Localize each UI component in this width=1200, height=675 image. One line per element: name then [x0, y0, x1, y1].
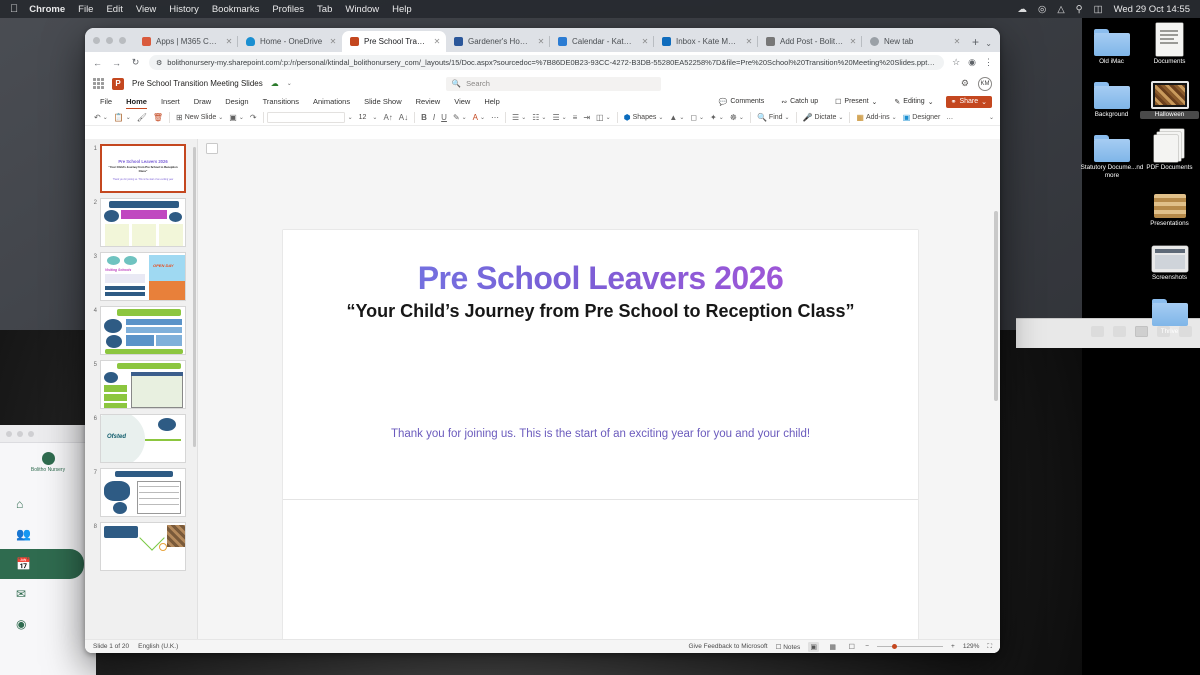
thumbnail-slide-3[interactable]: Visiting Schools OPEN DAY: [100, 252, 186, 301]
shape-effects-icon: ✦: [710, 113, 717, 122]
fit-to-window-icon[interactable]: ⛶: [987, 643, 992, 651]
wordpress-icon: [766, 37, 775, 46]
search-placeholder: Search: [466, 79, 490, 88]
status-bar: Slide 1 of 20 English (U.K.) Give Feedba…: [85, 639, 1000, 653]
reload-button[interactable]: ↻: [130, 57, 141, 68]
folder-icon: [1082, 22, 1141, 56]
thumbnail-number: 8: [87, 522, 97, 530]
addins-icon: ▦: [856, 113, 864, 122]
shape-outline-icon: ◻: [690, 113, 697, 122]
menu-view[interactable]: View: [136, 4, 156, 15]
chrome-browser-window: Apps | M365 Copilot ✕ Home - OneDrive ✕ …: [85, 28, 1000, 653]
layout-icon: ▣: [229, 113, 237, 122]
pencil-icon: ✎: [894, 98, 900, 106]
nav-chat[interactable]: ✉: [0, 579, 96, 609]
normal-view-icon[interactable]: ▣: [808, 642, 819, 652]
back-button[interactable]: ←: [92, 58, 103, 68]
zoom-in-button[interactable]: +: [951, 643, 955, 650]
undo-icon: ↶: [94, 113, 101, 122]
search-input[interactable]: 🔍 Search: [446, 77, 661, 91]
chevron-down-icon[interactable]: ⌄: [719, 114, 724, 121]
thumbnail-row[interactable]: 3 Visiting Schools OPEN DAY: [85, 247, 197, 301]
designer-button[interactable]: ▣Designer: [900, 111, 944, 124]
line-spacing-button[interactable]: ≡: [570, 111, 581, 124]
bullets-icon: ☰: [512, 113, 519, 122]
search-icon[interactable]: ⚲: [1076, 4, 1083, 15]
nav-home[interactable]: ⌂: [0, 489, 96, 519]
wifi-icon[interactable]: △: [1057, 4, 1064, 15]
photo-icon: [1140, 75, 1199, 109]
nav-people[interactable]: 👥: [0, 519, 96, 549]
more-font-options-button[interactable]: ⋯: [488, 111, 502, 124]
highlight-icon: ✎: [453, 113, 460, 122]
brand-label: Bolitho Nursery: [31, 467, 65, 473]
thumbnail-slide-4[interactable]: [100, 306, 186, 355]
desktop-icon-pdf-documents[interactable]: PDF Documents: [1140, 128, 1199, 172]
copilot-icon: [142, 37, 151, 46]
browser-tab[interactable]: Calendar - Kate Mudd - O… ✕: [550, 31, 654, 52]
thumbnail-slide-7[interactable]: [100, 468, 186, 517]
app-launcher-icon[interactable]: [93, 78, 104, 89]
present-label: Present: [844, 98, 868, 105]
chevron-down-icon[interactable]: ⌄: [521, 114, 526, 121]
delete-button[interactable]: 🗑: [150, 111, 166, 124]
reset-icon: ↷: [250, 113, 257, 122]
doc-stack-icon: [1140, 128, 1199, 162]
thumbnail-slide-2[interactable]: [100, 198, 186, 247]
notes-button[interactable]: ☐ Notes: [776, 643, 801, 651]
browser-tab[interactable]: Gardener's House Trip R… ✕: [446, 31, 550, 52]
desktop-icon-label: PDF Documents: [1140, 164, 1199, 172]
editor-work-area: 1 Pre School Leavers 2026 "Your Child's …: [85, 139, 1000, 639]
bold-icon: B: [421, 113, 427, 122]
underline-button[interactable]: U: [438, 111, 450, 124]
powerpoint-web-app: Pre School Transition Meeting Slides ☁ ⌄…: [85, 73, 1000, 653]
chevron-down-icon[interactable]: ⌄: [892, 114, 897, 121]
new-slide-icon: ⊞: [176, 113, 183, 122]
tab-draw[interactable]: Draw: [187, 94, 219, 109]
grow-font-button[interactable]: A↑: [380, 111, 395, 124]
desktop-icon-label: Documents: [1140, 58, 1199, 66]
thumbnail-slide-5[interactable]: [100, 360, 186, 409]
desktop-icons: Old iMac Documents Background Halloween …: [1082, 18, 1200, 348]
browser-toolbar: ← → ↻ ⚙ bolithonursery-my.sharepoint.com…: [85, 52, 1000, 73]
tab-view[interactable]: View: [447, 94, 477, 109]
thumbnail-number: 5: [87, 360, 97, 368]
tab-file[interactable]: File: [93, 94, 119, 109]
search-icon: 🔍: [452, 79, 461, 88]
onedrive-icon: [246, 37, 255, 46]
menu-chrome[interactable]: Chrome: [29, 4, 65, 15]
slide-options-button[interactable]: [206, 143, 218, 154]
minimize-icon[interactable]: [106, 37, 113, 44]
language-label[interactable]: English (U.K.): [138, 643, 178, 650]
sorter-view-icon[interactable]: ▦: [827, 642, 838, 652]
tab-transitions[interactable]: Transitions: [256, 94, 306, 109]
comments-button[interactable]: 💬 Comments: [714, 96, 770, 108]
tab-title: Gardener's House Trip R…: [468, 37, 532, 46]
document-icon: [1140, 22, 1199, 56]
desktop-icon-label: Thrive: [1140, 328, 1199, 336]
present-icon: ☐: [835, 98, 841, 106]
close-icon[interactable]: [6, 431, 12, 437]
tab-title: Calendar - Kate Mudd - O…: [572, 37, 636, 46]
close-icon[interactable]: ✕: [849, 37, 857, 46]
browser-tab-strip: Apps | M365 Copilot ✕ Home - OneDrive ✕ …: [85, 28, 1000, 52]
paste-icon: 📋: [114, 113, 124, 122]
bookmark-star-icon[interactable]: ☆: [952, 57, 960, 68]
feedback-link[interactable]: Give Feedback to Microsoft: [688, 643, 767, 650]
browser-tab[interactable]: New tab ✕: [862, 31, 966, 52]
slide-thumbnail-panel[interactable]: 1 Pre School Leavers 2026 "Your Child's …: [85, 139, 198, 639]
app-header: Pre School Transition Meeting Slides ☁ ⌄…: [85, 73, 1000, 94]
menu-tab[interactable]: Tab: [317, 4, 332, 15]
shapes-icon: ⬢: [624, 113, 631, 122]
shape-fill-icon: ▲: [669, 113, 677, 122]
shapes-label: Shapes: [633, 114, 657, 121]
thumbnail-slide-1[interactable]: Pre School Leavers 2026 "Your Child's Jo…: [100, 144, 186, 193]
reset-button[interactable]: ↷: [247, 111, 260, 124]
comments-label: Comments: [730, 98, 764, 105]
slide-divider: [283, 499, 918, 500]
word-icon: [454, 37, 463, 46]
close-icon[interactable]: ✕: [329, 37, 337, 46]
new-slide-label: New Slide: [185, 114, 217, 121]
chrome-menu-icon[interactable]: ⋮: [984, 57, 993, 68]
columns-icon: ◫: [596, 113, 604, 122]
catchup-icon: ∾: [781, 98, 787, 106]
underline-icon: U: [441, 113, 447, 122]
new-tab-button[interactable]: +: [972, 35, 979, 49]
bullets-button[interactable]: ☰⌄: [509, 111, 529, 124]
slide-canvas[interactable]: Pre School Leavers 2026 “Your Child’s Jo…: [283, 230, 918, 639]
apple-logo-icon[interactable]: : [10, 4, 18, 15]
catch-up-button[interactable]: ∾ Catch up: [776, 96, 823, 108]
chevron-down-icon[interactable]: ⌄: [928, 98, 934, 106]
thumbnail-row[interactable]: 6 Ofsted: [85, 409, 197, 463]
font-name-input[interactable]: [267, 112, 345, 123]
gear-icon[interactable]: ⚙: [961, 78, 969, 89]
tab-title: Inbox - Kate Mudd - Outl…: [676, 37, 740, 46]
dictate-label: Dictate: [815, 114, 837, 121]
tab-help[interactable]: Help: [477, 94, 506, 109]
comment-icon: 💬: [719, 98, 728, 106]
cloud-saved-icon: ☁: [271, 79, 279, 88]
browser-tab[interactable]: Apps | M365 Copilot ✕: [134, 31, 238, 52]
chevron-down-icon[interactable]: ⌄: [239, 114, 244, 121]
new-slide-button[interactable]: ⊞New Slide⌄: [173, 111, 226, 124]
menu-bar-clock[interactable]: Wed 29 Oct 14:55: [1114, 4, 1190, 15]
arrange-icon: ☸: [730, 113, 737, 122]
background-app-window[interactable]: Bolitho Nursery ⌂ 👥 📅 ✉ ◉: [0, 425, 96, 675]
chevron-down-icon[interactable]: ⌄: [838, 114, 843, 121]
align-button[interactable]: ☰⌄: [549, 111, 569, 124]
font-color-icon: A: [473, 113, 478, 122]
reading-view-icon[interactable]: ☐: [846, 642, 857, 652]
screenshot-icon: [1140, 238, 1199, 272]
close-icon[interactable]: ✕: [433, 37, 441, 46]
close-icon[interactable]: ✕: [641, 37, 649, 46]
photo-grid-icon: [1140, 184, 1199, 218]
close-icon[interactable]: ✕: [953, 37, 961, 46]
chevron-down-icon[interactable]: ⌄: [126, 114, 131, 121]
desktop-icon-old-imac[interactable]: Old iMac: [1082, 22, 1141, 66]
screen: Bolitho Nursery ⌂ 👥 📅 ✉ ◉ Old iMac: [0, 0, 1200, 675]
folder-icon: [1082, 75, 1141, 109]
delete-icon: 🗑: [153, 113, 163, 122]
dictate-button[interactable]: 🎤Dictate⌄: [800, 111, 847, 124]
designer-icon: ▣: [903, 113, 911, 122]
font-color-button[interactable]: A⌄: [470, 111, 488, 124]
tab-title: Add Post - Bolitho Nurse…: [780, 37, 844, 46]
tab-title: Apps | M365 Copilot: [156, 37, 220, 46]
thumbnail-row[interactable]: 2: [85, 193, 197, 247]
italic-button[interactable]: I: [430, 111, 438, 124]
chevron-down-icon[interactable]: ⌄: [872, 98, 878, 106]
thumbnail-number: 1: [87, 144, 97, 152]
thumbnail-number: 2: [87, 198, 97, 206]
thumbnail-scrollbar[interactable]: [193, 147, 196, 447]
chevron-down-icon[interactable]: ⌄: [679, 114, 684, 121]
menu-window[interactable]: Window: [345, 4, 379, 15]
chevron-down-icon[interactable]: ⌄: [541, 114, 546, 121]
format-painter-button[interactable]: 🖌: [134, 111, 150, 124]
slide-subtitle[interactable]: “Your Child’s Journey from Pre School to…: [283, 301, 918, 322]
nav-camera[interactable]: ◉: [0, 609, 96, 639]
url-text: bolithonursery-my.sharepoint.com/:p:/r/p…: [167, 58, 937, 67]
extensions-icon[interactable]: ◉: [968, 57, 976, 68]
editing-button[interactable]: ✎ Editing ⌄: [889, 96, 938, 108]
desktop-icon-halloween[interactable]: Halloween: [1140, 75, 1199, 119]
powerpoint-icon: [112, 78, 124, 90]
catch-up-label: Catch up: [790, 98, 818, 105]
thumbnail-slide-8[interactable]: [100, 522, 186, 571]
record-icon[interactable]: ◎: [1038, 4, 1046, 15]
thumbnail-row[interactable]: 8: [85, 517, 197, 571]
zoom-icon[interactable]: [28, 431, 34, 437]
shape-outline-button[interactable]: ◻⌄: [687, 111, 707, 124]
chevron-down-icon[interactable]: ⌄: [981, 98, 987, 106]
desktop-icon-documents[interactable]: Documents: [1140, 22, 1199, 66]
share-label: Share: [959, 98, 978, 105]
desktop-icon-label: Halloween: [1140, 111, 1199, 119]
shape-fill-button[interactable]: ▲⌄: [666, 111, 687, 124]
tab-title: New tab: [884, 37, 948, 46]
addins-label: Add-ins: [866, 114, 890, 121]
chevron-down-icon[interactable]: ⌄: [785, 114, 790, 121]
close-icon[interactable]: ✕: [745, 37, 753, 46]
thumbnail-row[interactable]: 1 Pre School Leavers 2026 "Your Child's …: [85, 139, 197, 193]
tab-title: Home - OneDrive: [260, 37, 324, 46]
columns-button[interactable]: ◫⌄: [593, 111, 614, 124]
chevron-down-icon[interactable]: ⌄: [562, 114, 567, 121]
calendar-icon: [558, 37, 567, 46]
highlight-button[interactable]: ✎⌄: [450, 111, 470, 124]
arrange-button[interactable]: ☸⌄: [727, 111, 747, 124]
tab-slide-show[interactable]: Slide Show: [357, 94, 409, 109]
tab-review[interactable]: Review: [409, 94, 448, 109]
find-label: Find: [769, 114, 783, 121]
browser-tab[interactable]: Add Post - Bolitho Nurse… ✕: [758, 31, 862, 52]
designer-label: Designer: [912, 114, 940, 121]
chevron-down-icon[interactable]: ⌄: [462, 114, 467, 121]
numbering-icon: ☷: [532, 113, 539, 122]
folder-icon: [1140, 292, 1199, 326]
slide-scrollbar[interactable]: [994, 211, 998, 401]
menu-profiles[interactable]: Profiles: [272, 4, 304, 15]
chevron-down-icon[interactable]: ⌄: [218, 114, 223, 121]
globe-icon: [870, 37, 879, 46]
menu-file[interactable]: File: [78, 4, 93, 15]
chevron-down-icon[interactable]: ⌄: [348, 114, 353, 121]
indent-icon: ⇥: [583, 113, 590, 122]
layout-button[interactable]: ▣⌄: [226, 111, 247, 124]
slide-counter: Slide 1 of 20: [93, 643, 129, 650]
slide-title[interactable]: Pre School Leavers 2026: [283, 260, 918, 297]
zoom-icon[interactable]: [119, 37, 126, 44]
shrink-font-button[interactable]: A↓: [396, 111, 411, 124]
shape-effects-button[interactable]: ✦⌄: [707, 111, 727, 124]
tab-design[interactable]: Design: [218, 94, 255, 109]
close-icon[interactable]: ✕: [225, 37, 233, 46]
shrink-font-icon: A↓: [399, 113, 408, 122]
desktop-icon-label: Old iMac: [1082, 58, 1141, 66]
nursery-logo-icon: [42, 452, 55, 465]
zoom-out-button[interactable]: −: [865, 643, 869, 650]
paste-button[interactable]: 📋⌄: [111, 111, 134, 124]
desktop-icon-statutory-documents[interactable]: Statutory Docume...nd more: [1079, 128, 1145, 180]
site-settings-icon[interactable]: ⚙: [156, 59, 162, 67]
more-font-icon: ⋯: [491, 113, 499, 122]
ribbon-tab-bar: File Home Insert Draw Design Transitions…: [85, 94, 1000, 109]
toolbar-icons: ☆ ◉ ⋮: [952, 57, 993, 68]
background-app-titlebar: [0, 425, 96, 443]
desktop-icon-label: Background: [1082, 111, 1141, 119]
desktop-icon-label: Presentations: [1140, 220, 1199, 228]
ribbon-overflow-button[interactable]: …: [943, 111, 956, 124]
chevron-down-icon[interactable]: ⌄: [480, 114, 485, 121]
format-painter-icon: 🖌: [137, 113, 147, 122]
line-spacing-icon: ≡: [573, 113, 578, 122]
desktop-icon-presentations[interactable]: Presentations: [1140, 184, 1199, 228]
thumbnail-row[interactable]: 7: [85, 463, 197, 517]
background-app-nav: ⌂ 👥 📅 ✉ ◉: [0, 481, 96, 639]
minimize-icon[interactable]: [17, 431, 23, 437]
menu-history[interactable]: History: [169, 4, 199, 15]
tab-search-icon[interactable]: ⌄: [985, 39, 992, 48]
desktop-icon-label: Screenshots: [1140, 274, 1199, 282]
nav-calendar[interactable]: 📅: [0, 549, 84, 579]
tab-title: Pre School Transition Me…: [364, 37, 428, 46]
align-icon: ☰: [552, 113, 559, 122]
zoom-level: 129%: [963, 643, 980, 650]
notes-icon: ☐: [776, 644, 782, 651]
microphone-icon: 🎤: [803, 113, 813, 122]
chevron-down-icon[interactable]: ⌄: [739, 114, 744, 121]
share-button[interactable]: ⚭ Share ⌄: [946, 96, 992, 108]
folder-icon: [1079, 128, 1145, 162]
thumbnail-slide-6[interactable]: Ofsted: [100, 414, 186, 463]
addins-button[interactable]: ▦Add-ins⌄: [853, 111, 899, 124]
ribbon-actions: 💬 Comments ∾ Catch up ☐ Present ⌄ ✎ E: [714, 96, 992, 108]
undo-button[interactable]: ↶⌄: [91, 111, 111, 124]
close-icon[interactable]: [93, 37, 100, 44]
chevron-down-icon[interactable]: ⌄: [658, 114, 663, 121]
italic-icon: I: [433, 113, 435, 122]
grow-font-icon: A↑: [383, 113, 392, 122]
menu-edit[interactable]: Edit: [106, 4, 122, 15]
status-bar-right: Give Feedback to Microsoft ☐ Notes ▣ ▦ ☐…: [688, 642, 992, 652]
shapes-button[interactable]: ⬢Shapes⌄: [621, 111, 667, 124]
numbering-button[interactable]: ☷⌄: [529, 111, 549, 124]
thumbnail-number: 3: [87, 252, 97, 260]
desktop-icon-screenshots[interactable]: Screenshots: [1140, 238, 1199, 282]
outlook-icon: [662, 37, 671, 46]
macos-menu-bar:  Chrome File Edit View History Bookmark…: [0, 0, 1200, 18]
header-right: ⚙ KM: [961, 77, 992, 91]
bold-button[interactable]: B: [418, 111, 430, 124]
thumbnail-row[interactable]: 4: [85, 301, 197, 355]
tab-home[interactable]: Home: [119, 94, 154, 109]
tab-animations[interactable]: Animations: [306, 94, 357, 109]
close-icon[interactable]: ✕: [537, 37, 545, 46]
avatar[interactable]: KM: [978, 77, 992, 91]
slide-editor-pane[interactable]: Pre School Leavers 2026 “Your Child’s Jo…: [198, 139, 1000, 639]
chevron-down-icon[interactable]: ⌄: [103, 114, 108, 121]
browser-tab[interactable]: Home - OneDrive ✕: [238, 31, 342, 52]
ribbon-toolbar: ↶⌄ 📋⌄ 🖌 🗑 ⊞New Slide⌄ ▣⌄ ↷ ⌄ 12 ⌄ A↑ A↓ …: [85, 109, 1000, 126]
browser-tab[interactable]: Inbox - Kate Mudd - Outl… ✕: [654, 31, 758, 52]
chevron-down-icon[interactable]: ⌄: [606, 114, 611, 121]
indent-button[interactable]: ⇥: [580, 111, 593, 124]
forward-button[interactable]: →: [111, 58, 122, 68]
notes-label: Notes: [783, 644, 800, 651]
control-center-icon[interactable]: ◫: [1094, 4, 1103, 15]
background-app-brand: Bolitho Nursery: [0, 443, 96, 481]
document-name[interactable]: Pre School Transition Meeting Slides: [132, 79, 263, 88]
thumbnail-row[interactable]: 5: [85, 355, 197, 409]
thumbnail-number: 4: [87, 306, 97, 314]
find-button[interactable]: 🔍Find⌄: [754, 111, 793, 124]
tab-insert[interactable]: Insert: [154, 94, 187, 109]
chevron-down-icon[interactable]: ⌄: [287, 80, 292, 87]
chevron-down-icon[interactable]: ⌄: [699, 114, 704, 121]
collapse-ribbon-icon[interactable]: ⌄: [989, 114, 994, 121]
present-button[interactable]: ☐ Present ⌄: [830, 96, 882, 108]
share-icon: ⚭: [951, 98, 957, 106]
desktop-icon-thrive[interactable]: Thrive: [1140, 292, 1199, 336]
browser-tab-active[interactable]: Pre School Transition Me… ✕: [342, 31, 446, 52]
address-bar[interactable]: ⚙ bolithonursery-my.sharepoint.com/:p:/r…: [149, 55, 944, 70]
powerpoint-icon: [350, 37, 359, 46]
thumbnail-number: 7: [87, 468, 97, 476]
desktop-icon-label: Statutory Docume...nd more: [1079, 164, 1145, 180]
cloud-icon[interactable]: ☁: [1018, 4, 1028, 15]
menu-bookmarks[interactable]: Bookmarks: [212, 4, 260, 15]
desktop-icon-background[interactable]: Background: [1082, 75, 1141, 119]
window-controls: [91, 28, 134, 52]
slide-closing-line[interactable]: Thank you for joining us. This is the st…: [283, 428, 918, 440]
menu-help[interactable]: Help: [392, 4, 412, 15]
thumbnail-number: 6: [87, 414, 97, 422]
editing-label: Editing: [903, 98, 924, 105]
zoom-slider[interactable]: [877, 642, 943, 652]
font-size-value[interactable]: 12: [356, 111, 370, 124]
chevron-down-icon[interactable]: ⌄: [372, 114, 377, 121]
find-icon: 🔍: [757, 113, 767, 122]
